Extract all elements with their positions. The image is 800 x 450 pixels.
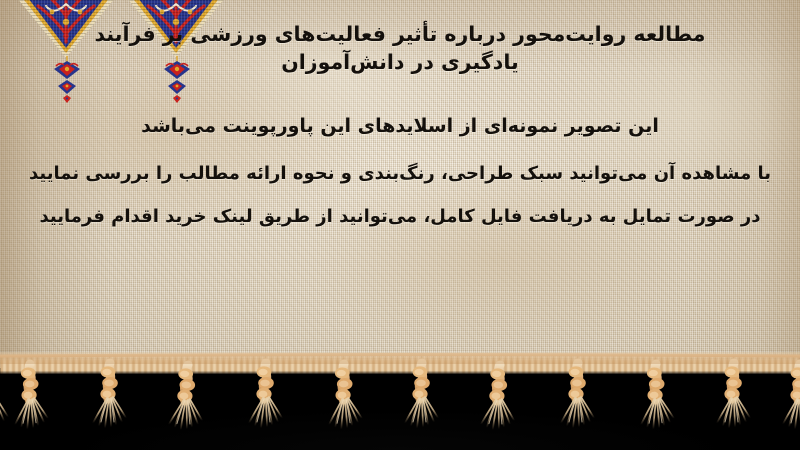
slide-title-line-2: یادگیری در دانش‌آموزان — [0, 48, 800, 76]
slide-title-line-1: مطالعه روایت‌محور درباره تأثیر فعالیت‌ها… — [0, 20, 800, 48]
slide-canvas: مطالعه روایت‌محور درباره تأثیر فعالیت‌ها… — [0, 0, 800, 450]
slide-body-line-1: این تصویر نمونه‌ای از اسلایدهای این پاور… — [0, 112, 800, 140]
slide-body-line-3: در صورت تمایل به دریافت فایل کامل، می‌تو… — [0, 203, 800, 231]
carpet-knotted-fringe — [0, 352, 800, 450]
slide-text-block: مطالعه روایت‌محور درباره تأثیر فعالیت‌ها… — [0, 0, 800, 372]
slide-body-line-2: با مشاهده آن می‌توانید سبک طراحی، رنگ‌بن… — [0, 160, 800, 188]
